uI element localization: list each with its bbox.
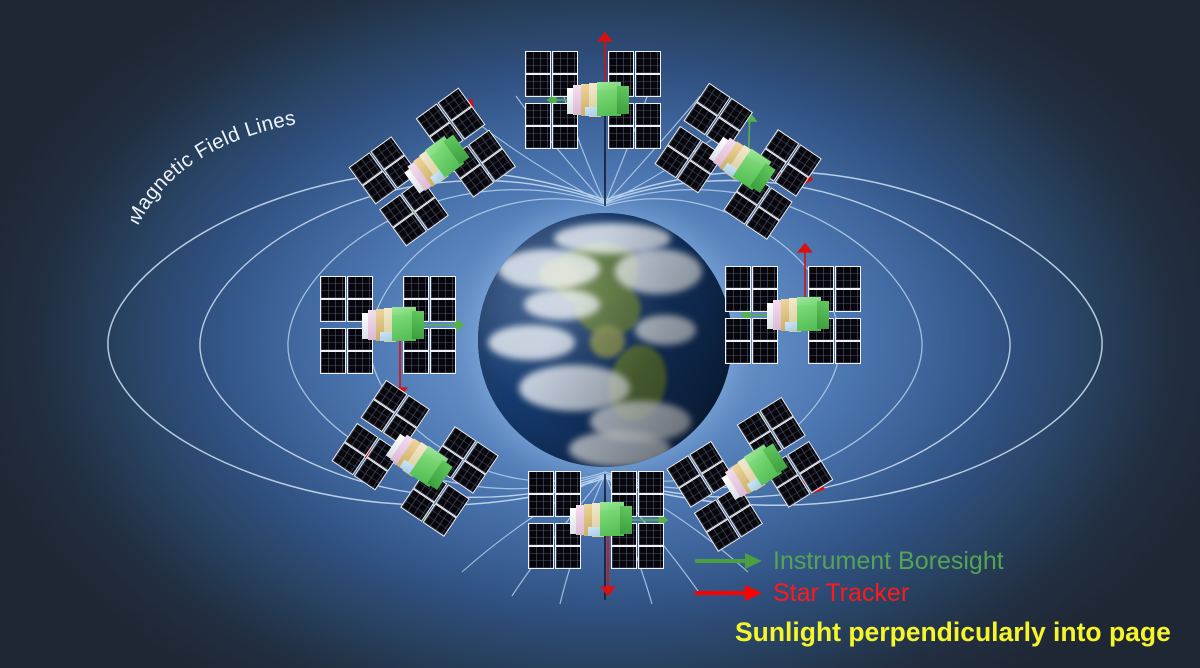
legend-item-instrument-boresight: Instrument Boresight bbox=[695, 545, 1195, 577]
figure-canvas: Magnetic Field Lines Instrument Boresigh… bbox=[0, 0, 1200, 668]
solar-panel bbox=[528, 523, 554, 546]
solar-panel bbox=[808, 266, 834, 289]
legend-label-instrument-boresight: Instrument Boresight bbox=[773, 549, 1004, 574]
solar-panel bbox=[725, 266, 751, 289]
solar-panel bbox=[528, 494, 554, 517]
satellite-bottom[interactable] bbox=[548, 460, 668, 580]
solar-panel bbox=[528, 546, 554, 569]
red-arrow-icon bbox=[695, 585, 765, 601]
solar-panel bbox=[752, 266, 778, 289]
solar-panel bbox=[638, 494, 664, 517]
legend-note-sunlight: Sunlight perpendicularly into page bbox=[695, 616, 1195, 648]
solar-panel bbox=[555, 546, 581, 569]
solar-panel bbox=[638, 471, 664, 494]
bus-face bbox=[620, 506, 632, 534]
legend: Instrument Boresight Star Tracker Sunlig… bbox=[695, 545, 1195, 648]
solar-panel bbox=[611, 471, 637, 494]
green-arrow-icon bbox=[695, 553, 765, 569]
legend-label-star-tracker: Star Tracker bbox=[773, 581, 909, 606]
solar-panel bbox=[835, 266, 861, 289]
magnetic-field-lines-text: Magnetic Field Lines bbox=[131, 112, 298, 229]
solar-panel bbox=[638, 546, 664, 569]
satellite-body bbox=[548, 460, 668, 580]
solar-panel bbox=[638, 523, 664, 546]
solar-panel bbox=[555, 471, 581, 494]
satellite-bus bbox=[570, 500, 632, 542]
legend-label-sunlight: Sunlight perpendicularly into page bbox=[735, 619, 1171, 646]
solar-panel bbox=[528, 471, 554, 494]
legend-item-star-tracker: Star Tracker bbox=[695, 577, 1195, 609]
solar-panel bbox=[611, 546, 637, 569]
magnetic-field-lines-label: Magnetic Field Lines bbox=[131, 112, 371, 232]
